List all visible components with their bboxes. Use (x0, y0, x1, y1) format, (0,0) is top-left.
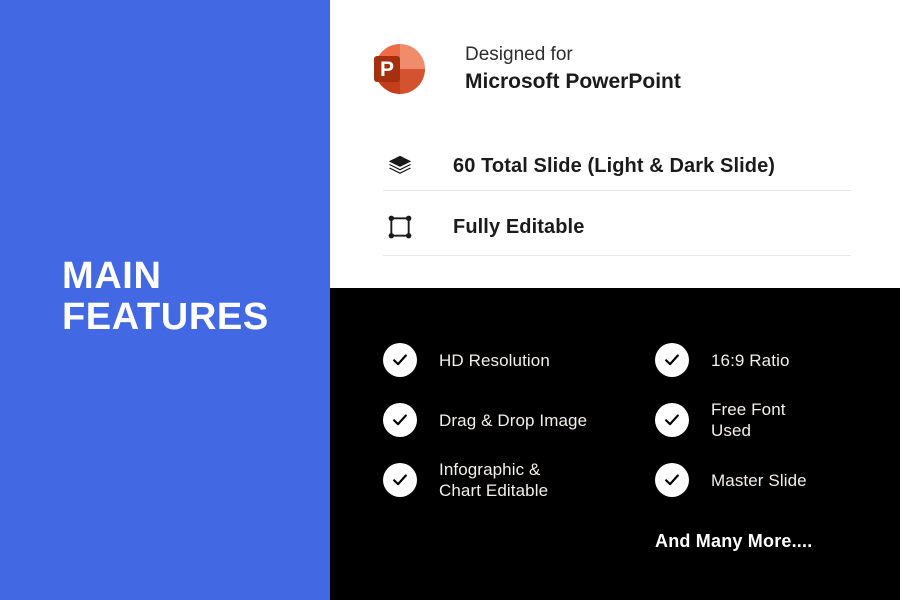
feature-slide-canvas: MAIN FEATURES (0, 0, 900, 600)
checklist-label-line-1: Drag & Drop Image (439, 411, 587, 430)
white-info-section: P Designed for Microsoft PowerPoint (330, 0, 900, 288)
check-circle-icon (655, 403, 689, 437)
feature-label-total-slides: 60 Total Slide (Light & Dark Slide) (453, 155, 775, 178)
feature-label-fully-editable: Fully Editable (453, 216, 584, 239)
checklist-label-line-2: Chart Editable (439, 480, 548, 501)
designed-for-mainlabel: Microsoft PowerPoint (465, 68, 681, 96)
designed-for-row: P Designed for Microsoft PowerPoint (367, 38, 681, 100)
designed-for-sublabel: Designed for (465, 42, 681, 68)
left-blue-panel: MAIN FEATURES (0, 0, 330, 600)
checklist-item-master-slide: Master Slide (655, 452, 885, 508)
right-content-area: P Designed for Microsoft PowerPoint (330, 0, 900, 600)
check-circle-icon (655, 343, 689, 377)
black-checklist-section: HD Resolution Drag & Drop Image (330, 288, 900, 600)
checklist-item-16-9-ratio: 16:9 Ratio (655, 332, 885, 388)
layers-stack-icon (383, 149, 417, 183)
checklist-label-line-1: Free Font (711, 400, 786, 419)
designed-for-text-block: Designed for Microsoft PowerPoint (465, 42, 681, 96)
check-circle-icon (383, 463, 417, 497)
checklist-label-line-1: Infographic & (439, 460, 540, 479)
checklist-label-infographic-chart: Infographic & Chart Editable (439, 459, 548, 501)
checklist-label-16-9-ratio: 16:9 Ratio (711, 350, 790, 371)
checklist-item-free-font-used: Free Font Used (655, 392, 885, 448)
checklist-item-infographic-chart: Infographic & Chart Editable (383, 452, 638, 508)
checklist-label-hd-resolution: HD Resolution (439, 350, 550, 371)
checklist-label-line-1: Master Slide (711, 471, 807, 490)
svg-text:P: P (380, 58, 394, 81)
checklist-label-line-2: Used (711, 420, 786, 441)
checklist-label-drag-drop-image: Drag & Drop Image (439, 410, 587, 431)
checklist-column-left: HD Resolution Drag & Drop Image (383, 332, 638, 512)
and-many-more-note: And Many More.... (655, 531, 812, 552)
page-title-line-1: MAIN (62, 256, 322, 297)
checklist-label-master-slide: Master Slide (711, 470, 807, 491)
checklist-column-right: 16:9 Ratio Free Font Used (655, 332, 885, 512)
check-circle-icon (383, 403, 417, 437)
feature-row-fully-editable: Fully Editable (383, 197, 853, 257)
check-circle-icon (655, 463, 689, 497)
feature-row-total-slides: 60 Total Slide (Light & Dark Slide) (383, 136, 853, 196)
checklist-item-drag-drop-image: Drag & Drop Image (383, 392, 638, 448)
checklist-label-line-1: 16:9 Ratio (711, 351, 790, 370)
transform-handles-icon (383, 210, 417, 244)
checklist-label-line-1: HD Resolution (439, 351, 550, 370)
powerpoint-logo-icon: P (367, 38, 429, 100)
check-circle-icon (383, 343, 417, 377)
checklist-label-free-font-used: Free Font Used (711, 399, 786, 441)
checklist-item-hd-resolution: HD Resolution (383, 332, 638, 388)
page-title-line-2: FEATURES (62, 297, 322, 338)
page-title: MAIN FEATURES (62, 256, 322, 338)
